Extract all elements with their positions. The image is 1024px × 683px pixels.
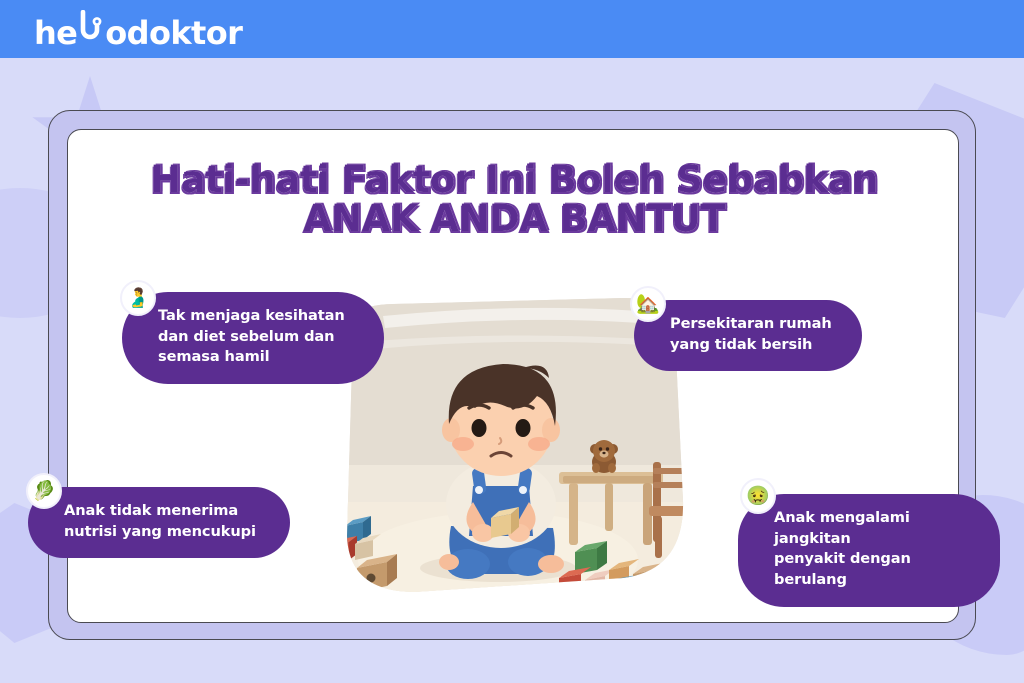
pregnant-woman-icon: 🫃 [120,280,156,316]
hellodoktor-logo[interactable]: heodoktor [34,0,242,58]
title-line-2: ANAK ANDA BANTUT [68,199,959,238]
logo-text-part-1: he [34,17,77,49]
leafy-green-icon: 🥬 [26,473,62,509]
logo-wordmark: heodoktor [34,10,242,49]
stethoscope-icon [78,10,104,44]
callout-text: Persekitaran rumah yang tidak bersih [670,314,832,355]
callout-bubble-prenatal-health[interactable]: 🫃 Tak menjaga kesihatan dan diet sebelum… [122,292,384,384]
top-brand-bar: heodoktor [0,0,1024,58]
nauseated-face-icon: 🤢 [740,478,776,514]
callout-bubble-recurring-infections[interactable]: 🤢 Anak mengalami jangkitan penyakit deng… [738,494,1000,607]
callout-text: Anak tidak menerima nutrisi yang mencuku… [64,501,256,542]
callout-text: Tak menjaga kesihatan dan diet sebelum d… [158,306,345,368]
page-title: Hati-hati Faktor Ini Boleh Sebabkan ANAK… [68,160,959,238]
house-icon: 🏡 [630,286,666,322]
callout-text: Anak mengalami jangkitan penyakit dengan… [774,508,974,591]
title-line-1: Hati-hati Faktor Ini Boleh Sebabkan [68,160,959,199]
callout-bubble-insufficient-nutrition[interactable]: 🥬 Anak tidak menerima nutrisi yang mencu… [28,487,290,558]
callout-bubble-unclean-home[interactable]: 🏡 Persekitaran rumah yang tidak bersih [634,300,862,371]
logo-text-part-2: odoktor [105,17,242,49]
